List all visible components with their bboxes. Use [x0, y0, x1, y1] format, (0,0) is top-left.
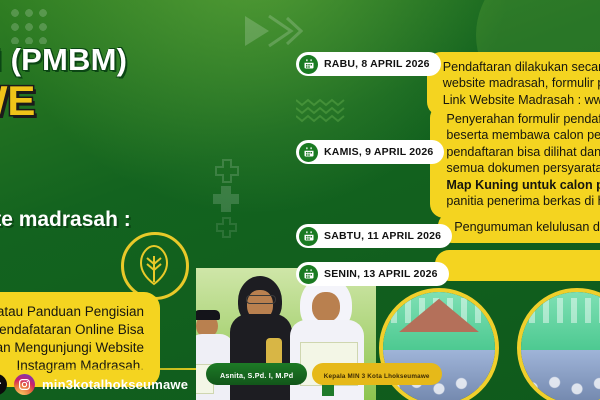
name-tag-secondary: Kepala MIN 3 Kota Lhokseumawe: [312, 363, 442, 385]
poster-subline: lalui website madrasah :: [0, 208, 131, 232]
divider-line: [0, 368, 222, 370]
info-line: an Mengunjungi Website: [0, 339, 144, 357]
timeline-row: KAMIS, 9 APRIL 2026 Penyerahan formulir …: [296, 104, 600, 218]
desc-line: pendaftaran bisa dilihat dan k: [446, 144, 600, 160]
date-pill: SABTU, 11 APRIL 2026: [296, 224, 452, 248]
instagram-icon[interactable]: [14, 374, 35, 395]
name-tag-primary: Asnita, S.Pd. I, M.Pd: [206, 363, 307, 385]
info-line: Instagram Madrasah.: [0, 357, 144, 375]
student-crowd: [521, 350, 600, 400]
date-pill: SENIN, 13 APRIL 2026: [296, 262, 449, 286]
desc-line: website madrasah, formulir pe: [443, 75, 600, 91]
timeline-description: Penyerahan formulir pendaft beserta memb…: [430, 104, 600, 218]
desc-line: beserta membawa calon pes: [446, 127, 600, 143]
principal-name-tag: Asnita, S.Pd. I, M.Pd Kepala MIN 3 Kota …: [206, 361, 442, 385]
principal-name: Asnita, S.Pd. I, M.Pd: [220, 371, 293, 380]
social-handle-text: min3kotalhokseumawe: [42, 377, 188, 392]
timeline-description: Pendaftaran ulang b: [435, 250, 600, 281]
desc-line: panitia penerima berkas di hala: [446, 193, 600, 209]
timeline-row: SABTU, 11 APRIL 2026 Pengumuman kelulusa…: [296, 212, 600, 248]
photo-students-trophy: [517, 288, 600, 400]
date-label: KAMIS, 9 APRIL 2026: [324, 146, 433, 158]
date-label: RABU, 8 APRIL 2026: [324, 58, 430, 70]
title-line-2: KSEUMAWE: [0, 80, 298, 122]
desc-line: Penyerahan formulir pendaft: [446, 111, 600, 127]
timeline-description: Pengumuman kelulusan disamp: [438, 212, 600, 243]
desc-line: Pendaftaran dilakukan secara: [443, 59, 600, 75]
map-kuning-bold: Map Kuning untuk calon peser: [446, 178, 600, 192]
info-note-box: a atau Panduan Pengisian Pendafataran On…: [0, 292, 160, 387]
date-pill: KAMIS, 9 APRIL 2026: [296, 140, 444, 164]
calendar-icon: [299, 265, 318, 284]
date-pill: RABU, 8 APRIL 2026: [296, 52, 441, 76]
info-line: Pendafataran Online Bisa: [0, 321, 144, 339]
calendar-icon: [299, 55, 318, 74]
info-line: a atau Panduan Pengisian: [0, 303, 144, 321]
social-media-bar: min3kotalhokseumawe: [0, 374, 188, 395]
calendar-icon: [299, 143, 318, 162]
date-label: SENIN, 13 APRIL 2026: [324, 268, 438, 280]
school-wall: [521, 292, 600, 355]
poster-title: U MADRASAH (PMBM) KSEUMAWE: [0, 44, 298, 122]
photo-content: [521, 292, 600, 400]
calendar-icon: [299, 227, 318, 246]
dot-grid-pattern-icon: [8, 6, 52, 44]
desc-line: Pendaftaran ulang b: [451, 257, 600, 273]
title-line-1: U MADRASAH (PMBM): [0, 44, 298, 76]
poster-canvas: U MADRASAH (PMBM) KSEUMAWE 2027 lalui we…: [0, 0, 600, 400]
leaf-logo-ring-icon: [121, 232, 189, 300]
date-label: SABTU, 11 APRIL 2026: [324, 230, 441, 242]
desc-line: semua dokumen persyaratan k: [446, 160, 600, 176]
principal-role: Kepala MIN 3 Kota Lhokseumawe: [324, 373, 430, 380]
timeline-row: SENIN, 13 APRIL 2026 Pendaftaran ulang b: [296, 250, 600, 286]
tiktok-icon[interactable]: [0, 374, 7, 395]
desc-line-bold: Map Kuning untuk calon peser: [446, 177, 600, 193]
plus-shapes-icon: [212, 158, 248, 243]
desc-line: Pengumuman kelulusan disamp: [454, 219, 600, 235]
